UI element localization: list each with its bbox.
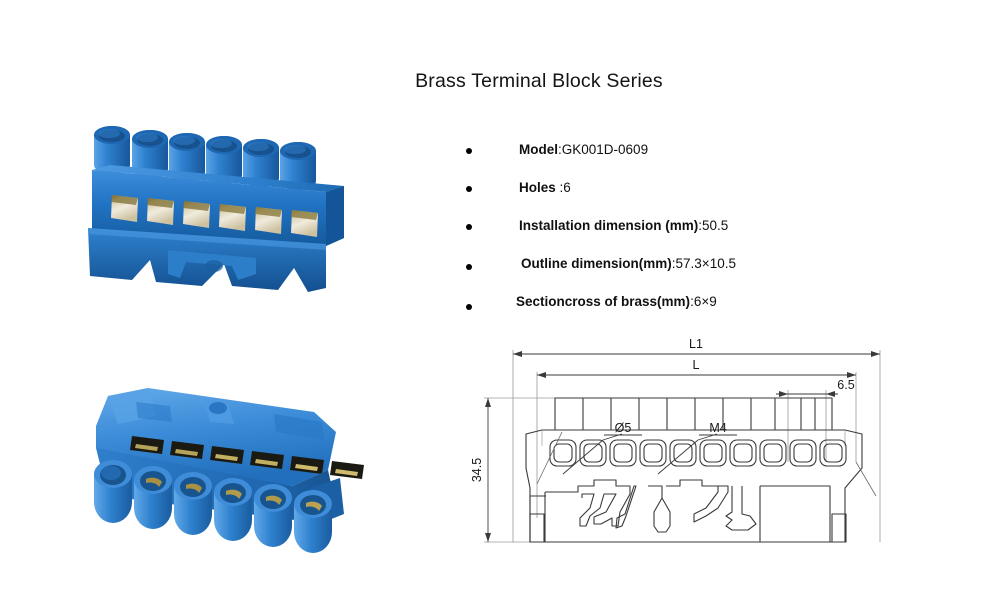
terminal-hole xyxy=(580,440,606,466)
front-tube xyxy=(254,484,292,547)
terminal-hole xyxy=(790,440,816,466)
comb-profile xyxy=(555,398,832,430)
front-tube xyxy=(134,466,172,529)
spec-sectioncross: Sectioncross of brass(mm):6×9 xyxy=(516,294,717,309)
bullet-icon xyxy=(466,264,472,270)
din-rail-clip xyxy=(545,480,630,542)
spec-key: Sectioncross of brass(mm) xyxy=(516,294,690,309)
terminal-hole xyxy=(610,440,636,466)
front-tube xyxy=(174,472,212,535)
spec-value: 6 xyxy=(563,180,571,195)
product-photo-front xyxy=(82,110,382,295)
product-photo-angled xyxy=(78,378,388,563)
list-item: Installation dimension (mm):50.5 xyxy=(466,218,886,256)
spec-key: Outline dimension(mm) xyxy=(521,256,672,271)
terminal-hole xyxy=(760,440,786,466)
spec-value: GK001D-0609 xyxy=(562,142,648,157)
page-title-text: Brass Terminal Block Series xyxy=(337,70,663,93)
spec-value: 57.3×10.5 xyxy=(676,256,736,271)
spec-value: 6×9 xyxy=(694,294,717,309)
wire-slot xyxy=(330,461,364,479)
specification-list: Model:GK001D-0609 Holes :6 Installation … xyxy=(466,142,886,332)
dimension-pitch xyxy=(776,391,838,397)
bullet-icon xyxy=(466,148,472,154)
front-tube xyxy=(94,460,132,523)
dimension-height xyxy=(485,398,491,542)
bullet-icon xyxy=(466,186,472,192)
front-tube xyxy=(214,478,252,541)
spec-key: Holes xyxy=(519,180,560,195)
list-item: Sectioncross of brass(mm):6×9 xyxy=(466,294,886,332)
technical-drawing: L1 L 6.5 34.5 Ø5 M4 xyxy=(470,336,900,580)
list-item: Model:GK001D-0609 xyxy=(466,142,886,180)
din-clip-latch xyxy=(726,486,756,530)
dim-label-pitch: 6.5 xyxy=(837,378,854,392)
mounting-tab-left xyxy=(530,514,544,542)
hole-row xyxy=(550,440,846,466)
page-title: Brass Terminal Block Series xyxy=(0,70,1000,93)
terminal-hole xyxy=(730,440,756,466)
din-clip-right xyxy=(666,480,728,522)
spec-outline-dimension: Outline dimension(mm):57.3×10.5 xyxy=(521,256,736,271)
spec-model: Model:GK001D-0609 xyxy=(519,142,648,157)
terminal-hole xyxy=(550,440,576,466)
list-item: Outline dimension(mm):57.3×10.5 xyxy=(466,256,886,294)
bullet-icon xyxy=(466,224,472,230)
dim-label-L: L xyxy=(693,358,700,372)
din-clip-center xyxy=(648,486,670,532)
list-item: Holes :6 xyxy=(466,180,886,218)
mounting-tab-right xyxy=(832,514,846,542)
spec-installation-dimension: Installation dimension (mm):50.5 xyxy=(519,218,728,233)
dimension-L1 xyxy=(513,351,880,357)
spec-key: Model xyxy=(519,142,558,157)
terminal-hole xyxy=(700,440,726,466)
dimension-L xyxy=(537,372,856,378)
terminal-hole xyxy=(640,440,666,466)
spec-value: 50.5 xyxy=(702,218,728,233)
terminal-hole xyxy=(820,440,846,466)
spec-key: Installation dimension (mm) xyxy=(519,218,698,233)
front-tube xyxy=(294,490,332,553)
body-base-right xyxy=(760,486,830,542)
dim-label-L1: L1 xyxy=(689,337,703,351)
block-right-face xyxy=(326,186,344,246)
bullet-icon xyxy=(466,304,472,310)
label-thread-size: M4 xyxy=(709,421,726,435)
label-hole-diameter: Ø5 xyxy=(615,421,632,435)
product-spec-page: Brass Terminal Block Series Model:GK001D… xyxy=(0,0,1000,600)
dim-label-height: 34.5 xyxy=(470,458,484,482)
spec-holes: Holes :6 xyxy=(519,180,571,195)
